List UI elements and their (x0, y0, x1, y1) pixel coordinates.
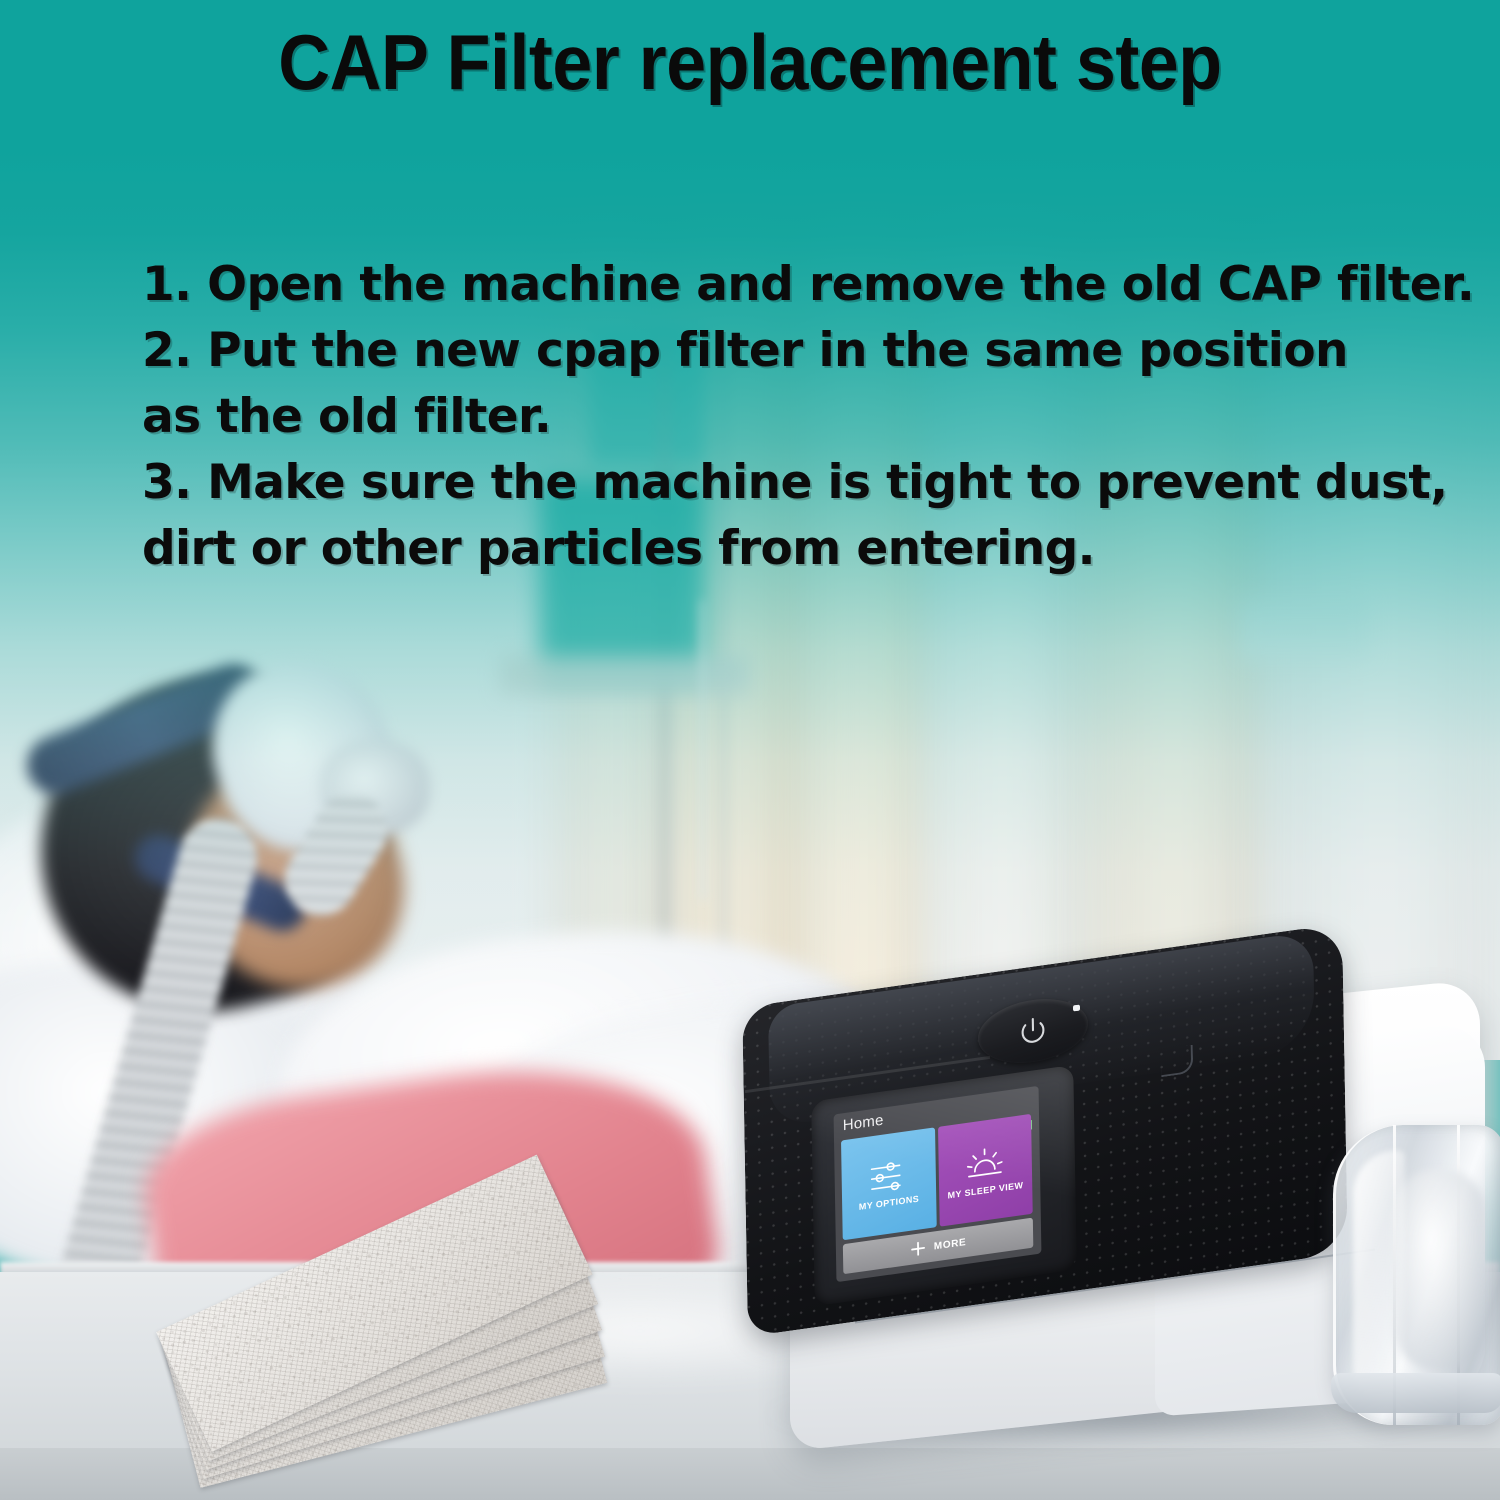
power-icon (1012, 1012, 1055, 1050)
tile-label: MY SLEEP VIEW (947, 1181, 1023, 1201)
power-indicator-led (1073, 1005, 1080, 1012)
tile-my-options[interactable]: MY OPTIONS (841, 1127, 936, 1240)
instruction-line: as the old filter. (142, 384, 1442, 450)
instruction-list: 1. Open the machine and remove the old C… (142, 252, 1442, 582)
sliders-icon (867, 1157, 910, 1197)
cpap-machine: Home (735, 955, 1500, 1455)
chamber-highlight (1353, 1150, 1405, 1405)
page-title: CAP Filter replacement step (60, 20, 1440, 104)
chamber-water-reflection (1395, 1170, 1485, 1370)
more-button-label: MORE (934, 1236, 967, 1252)
instruction-line: 3. Make sure the machine is tight to pre… (142, 450, 1442, 516)
tile-my-sleep-view[interactable]: MY SLEEP VIEW (938, 1114, 1033, 1227)
screen-header-title: Home (843, 1112, 884, 1135)
instruction-line: 1. Open the machine and remove the old C… (142, 252, 1442, 318)
instruction-line: dirt or other particles from entering. (142, 516, 1442, 582)
medical-cart-base (500, 655, 750, 695)
sunrise-icon (963, 1142, 1008, 1184)
filter-sheet-stack (170, 1230, 730, 1460)
poster-canvas: Home (0, 0, 1500, 1500)
iv-tube (700, 600, 706, 900)
wall-panel (1240, 600, 1370, 660)
device-screen[interactable]: Home (834, 1086, 1042, 1282)
tile-label: MY OPTIONS (859, 1195, 919, 1212)
instruction-line: 2. Put the new cpap filter in the same p… (142, 318, 1442, 384)
chamber-base (1331, 1373, 1500, 1413)
plus-icon (910, 1240, 926, 1258)
